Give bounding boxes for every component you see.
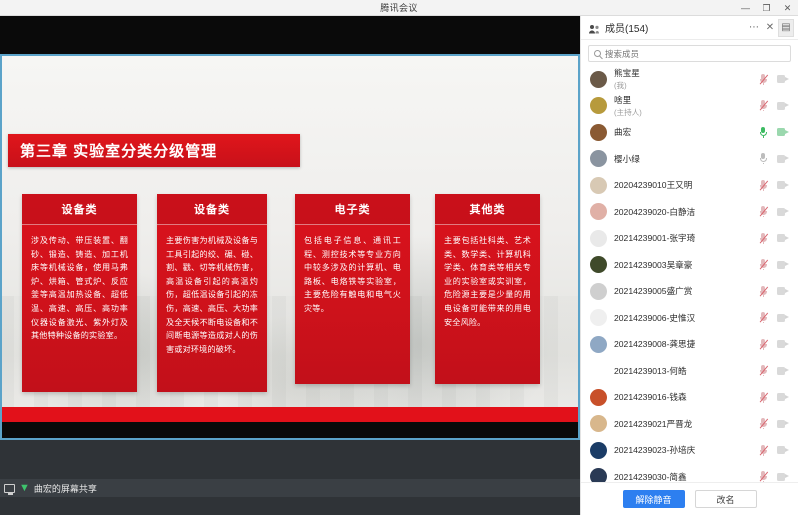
more-options-icon[interactable]: ⋯ xyxy=(746,19,762,37)
participant-name: 20214239021严晋龙 xyxy=(614,418,759,430)
avatar xyxy=(590,256,607,273)
avatar xyxy=(590,336,607,353)
slide-card: 设备类 涉及传动、带压装置、翻砂、锻造、铸造、加工机床等机械设备，使用马弗炉、烘… xyxy=(22,194,137,392)
search-input[interactable] xyxy=(605,49,785,59)
avatar xyxy=(590,71,607,88)
avatar xyxy=(590,362,607,379)
maximize-icon[interactable]: ❐ xyxy=(756,0,777,16)
participant-row[interactable]: 20214239003吴章豪 xyxy=(581,252,798,279)
participant-controls xyxy=(759,153,792,164)
arrow-down-icon: ▼ xyxy=(19,483,30,494)
avatar xyxy=(590,124,607,141)
microphone-muted-icon[interactable] xyxy=(759,392,768,403)
participant-row[interactable]: 曲宏 xyxy=(581,119,798,146)
avatar xyxy=(590,309,607,326)
screen-share-status-bar: ▼ 曲宏的屏幕共享 xyxy=(0,479,580,497)
slide-card-group: 设备类 涉及传动、带压装置、翻砂、锻造、铸造、加工机床等机械设备，使用马弗炉、烘… xyxy=(0,194,580,394)
close-icon[interactable]: ✕ xyxy=(777,0,798,16)
panel-dock-icon[interactable]: ▤ xyxy=(778,19,794,37)
participant-controls xyxy=(759,365,792,376)
participant-row[interactable]: 20214239016-钱森 xyxy=(581,384,798,411)
app-root: 腾讯会议 — ❐ ✕ 第三章 实验室分类分级管理 设备类 涉及传动、带压装置、翻… xyxy=(0,0,798,515)
camera-off-icon[interactable] xyxy=(777,75,789,83)
participant-row[interactable]: 20204239020-白静洁 xyxy=(581,199,798,226)
slide-card-body: 主要包括社科类、艺术类、数学类、计算机科学类、体育类等相关专业的实验室或实训室，… xyxy=(435,225,540,335)
participant-role: (主持人) xyxy=(614,107,759,118)
participant-row[interactable]: 熊宝星(我) xyxy=(581,66,798,93)
participant-name: 曲宏 xyxy=(614,126,759,138)
slide-card-body: 涉及传动、带压装置、翻砂、锻造、铸造、加工机床等机械设备，使用马弗炉、烘箱、管式… xyxy=(22,225,137,349)
microphone-muted-icon[interactable] xyxy=(759,153,768,164)
microphone-muted-icon[interactable] xyxy=(759,206,768,217)
people-icon-svg xyxy=(588,24,600,35)
participant-row[interactable]: 20204239010王又明 xyxy=(581,172,798,199)
participant-row[interactable]: 20214239005盛广赏 xyxy=(581,278,798,305)
camera-off-icon[interactable] xyxy=(777,102,789,110)
participant-name: 20214239016-钱森 xyxy=(614,391,759,403)
participant-name-wrap: 20214239005盛广赏 xyxy=(614,285,759,297)
participant-controls xyxy=(759,471,792,482)
participant-name: 樱小绿 xyxy=(614,153,759,165)
slide-card-heading: 其他类 xyxy=(435,194,540,225)
camera-on-icon[interactable] xyxy=(777,128,789,136)
participants-footer: 解除静音 改名 xyxy=(581,482,798,515)
participant-row[interactable]: 20214239008-龚思捷 xyxy=(581,331,798,358)
microphone-muted-icon[interactable] xyxy=(759,339,768,350)
participant-name-wrap: 20204239010王又明 xyxy=(614,179,759,191)
participant-controls xyxy=(759,206,792,217)
monitor-icon xyxy=(4,484,15,493)
window-title: 腾讯会议 xyxy=(380,1,418,14)
participant-name: 20204239010王又明 xyxy=(614,179,759,191)
camera-off-icon[interactable] xyxy=(777,473,789,481)
participant-row[interactable]: 20214239023-孙培庆 xyxy=(581,437,798,464)
camera-off-icon[interactable] xyxy=(777,234,789,242)
participants-panel: 成员(154) ⋯ ✕ ▤ 熊宝星(我)啥里(主持人)曲宏樱小绿20204239… xyxy=(580,16,798,515)
participant-name-wrap: 20214239008-龚思捷 xyxy=(614,338,759,350)
slide-card-body: 主要伤害为机械及设备与工具引起的绞、碾、碰、割、戳、切等机械伤害，高温设备引起的… xyxy=(157,225,267,362)
participant-row[interactable]: 樱小绿 xyxy=(581,146,798,173)
microphone-on-icon[interactable] xyxy=(759,127,768,138)
camera-off-icon[interactable] xyxy=(777,261,789,269)
participant-row[interactable]: 20214239021严晋龙 xyxy=(581,411,798,438)
participant-row[interactable]: 20214239013-何皓 xyxy=(581,358,798,385)
microphone-muted-icon[interactable] xyxy=(759,445,768,456)
participant-name: 啥里 xyxy=(614,94,759,106)
participant-row[interactable]: 啥里(主持人) xyxy=(581,93,798,120)
avatar xyxy=(590,442,607,459)
participant-controls xyxy=(759,233,792,244)
participant-name-wrap: 熊宝星(我) xyxy=(614,67,759,91)
participant-name-wrap: 20204239020-白静洁 xyxy=(614,206,759,218)
minimize-icon[interactable]: — xyxy=(735,0,756,16)
participant-controls xyxy=(759,445,792,456)
avatar xyxy=(590,468,607,482)
unmute-all-button[interactable]: 解除静音 xyxy=(623,490,685,508)
microphone-muted-icon[interactable] xyxy=(759,286,768,297)
participant-name-wrap: 樱小绿 xyxy=(614,153,759,165)
participant-name: 20214239001-张宇琦 xyxy=(614,232,759,244)
microphone-muted-icon[interactable] xyxy=(759,259,768,270)
microphone-muted-icon[interactable] xyxy=(759,74,768,85)
avatar xyxy=(590,203,607,220)
participant-name-wrap: 20214239023-孙培庆 xyxy=(614,444,759,456)
participant-name-wrap: 20214239003吴章豪 xyxy=(614,259,759,271)
participant-name-wrap: 20214239030-简鑫 xyxy=(614,471,759,482)
slide-footer-red-bar xyxy=(0,407,580,422)
camera-off-icon[interactable] xyxy=(777,181,789,189)
camera-off-icon[interactable] xyxy=(777,393,789,401)
participant-controls xyxy=(759,259,792,270)
participant-name: 20214239030-简鑫 xyxy=(614,471,759,482)
microphone-muted-icon[interactable] xyxy=(759,418,768,429)
slide-card-heading: 电子类 xyxy=(295,194,410,225)
participant-controls xyxy=(759,127,792,138)
slide-card-body: 包括电子信息、通讯工程、测控技术等专业方向中较多涉及的计算机、电路板、电烙铁等实… xyxy=(295,225,410,322)
microphone-muted-icon[interactable] xyxy=(759,180,768,191)
participant-name: 20214239008-龚思捷 xyxy=(614,338,759,350)
camera-off-icon[interactable] xyxy=(777,208,789,216)
people-icon xyxy=(588,22,600,33)
microphone-muted-icon[interactable] xyxy=(759,100,768,111)
participant-row[interactable]: 20214239001-张宇琦 xyxy=(581,225,798,252)
rename-button[interactable]: 改名 xyxy=(695,490,757,508)
avatar xyxy=(590,97,607,114)
participant-controls xyxy=(759,392,792,403)
avatar xyxy=(590,389,607,406)
participant-name: 熊宝星 xyxy=(614,67,759,79)
window-titlebar: 腾讯会议 — ❐ ✕ xyxy=(0,0,798,16)
slide-card: 设备类 主要伤害为机械及设备与工具引起的绞、碾、碰、割、戳、切等机械伤害，高温设… xyxy=(157,194,267,392)
microphone-muted-icon[interactable] xyxy=(759,233,768,244)
participant-name: 20214239005盛广赏 xyxy=(614,285,759,297)
participant-name-wrap: 20214239001-张宇琦 xyxy=(614,232,759,244)
camera-off-icon[interactable] xyxy=(777,287,789,295)
participants-search-wrap xyxy=(581,40,798,66)
screen-share-status-text: 曲宏的屏幕共享 xyxy=(34,482,97,495)
participant-name-wrap: 20214239013-何皓 xyxy=(614,365,759,377)
participant-row[interactable]: 20214239030-简鑫 xyxy=(581,464,798,483)
shared-screen-stage: 第三章 实验室分类分级管理 设备类 涉及传动、带压装置、翻砂、锻造、铸造、加工机… xyxy=(0,16,580,497)
participant-controls xyxy=(759,180,792,191)
slide-card-heading: 设备类 xyxy=(157,194,267,225)
participant-name-wrap: 曲宏 xyxy=(614,126,759,138)
slide-card: 其他类 主要包括社科类、艺术类、数学类、计算机科学类、体育类等相关专业的实验室或… xyxy=(435,194,540,384)
microphone-muted-icon[interactable] xyxy=(759,471,768,482)
avatar xyxy=(590,150,607,167)
slide-title-banner: 第三章 实验室分类分级管理 xyxy=(8,134,300,167)
participants-panel-title: 成员(154) xyxy=(605,20,746,35)
microphone-muted-icon[interactable] xyxy=(759,365,768,376)
participant-name-wrap: 20214239006-史惟汉 xyxy=(614,312,759,324)
presentation-slide: 第三章 实验室分类分级管理 设备类 涉及传动、带压装置、翻砂、锻造、铸造、加工机… xyxy=(0,54,580,440)
panel-close-icon[interactable]: ✕ xyxy=(762,19,778,37)
avatar xyxy=(590,177,607,194)
avatar xyxy=(590,415,607,432)
camera-off-icon[interactable] xyxy=(777,340,789,348)
participant-name: 20214239006-史惟汉 xyxy=(614,312,759,324)
participant-name: 20204239020-白静洁 xyxy=(614,206,759,218)
participants-panel-header: 成员(154) ⋯ ✕ ▤ xyxy=(581,16,798,40)
camera-off-icon[interactable] xyxy=(777,420,789,428)
microphone-muted-icon[interactable] xyxy=(759,312,768,323)
window-controls: — ❐ ✕ xyxy=(735,0,798,16)
camera-off-icon[interactable] xyxy=(777,155,789,163)
avatar xyxy=(590,230,607,247)
participant-name: 20214239023-孙培庆 xyxy=(614,444,759,456)
stage-letterbox-top xyxy=(0,16,580,54)
slide-footer-black-bar xyxy=(0,422,580,440)
camera-off-icon[interactable] xyxy=(777,446,789,454)
participant-controls xyxy=(759,339,792,350)
participant-name-wrap: 20214239016-钱森 xyxy=(614,391,759,403)
search-box[interactable] xyxy=(588,45,791,62)
slide-title-text: 第三章 实验室分类分级管理 xyxy=(8,134,300,167)
camera-off-icon[interactable] xyxy=(777,367,789,375)
participant-role: (我) xyxy=(614,80,759,91)
participant-row[interactable]: 20214239006-史惟汉 xyxy=(581,305,798,332)
slide-card-heading: 设备类 xyxy=(22,194,137,225)
participant-controls xyxy=(759,100,792,111)
search-icon xyxy=(594,50,601,57)
participant-controls xyxy=(759,286,792,297)
participant-name-wrap: 20214239021严晋龙 xyxy=(614,418,759,430)
participant-name: 20214239013-何皓 xyxy=(614,365,759,377)
camera-off-icon[interactable] xyxy=(777,314,789,322)
participants-list[interactable]: 熊宝星(我)啥里(主持人)曲宏樱小绿20204239010王又明20204239… xyxy=(581,66,798,482)
participant-name-wrap: 啥里(主持人) xyxy=(614,94,759,118)
participant-controls xyxy=(759,418,792,429)
avatar xyxy=(590,283,607,300)
participant-name: 20214239003吴章豪 xyxy=(614,259,759,271)
participant-controls xyxy=(759,312,792,323)
participant-controls xyxy=(759,74,792,85)
slide-card: 电子类 包括电子信息、通讯工程、测控技术等专业方向中较多涉及的计算机、电路板、电… xyxy=(295,194,410,384)
